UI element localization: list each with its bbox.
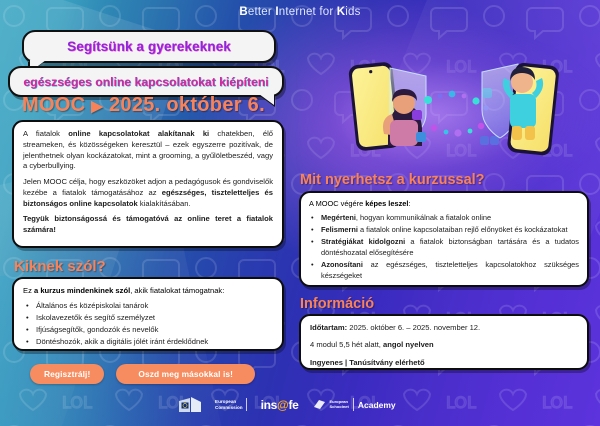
- speech-bubble-2-text: egészséges online kapcsolatokat kiépíten…: [23, 75, 268, 89]
- heading-kiknek-szol: Kiknek szól?: [14, 258, 106, 275]
- brand-letter-b: B: [239, 6, 248, 18]
- mooc-date-line: MOOC ▶ 2025. október 6.: [22, 94, 265, 117]
- cta-button-row: Regisztrálj! Oszd meg másokkal is!: [30, 364, 255, 384]
- info-modules: 4 modul 5,5 hét alatt, angol nyelven: [310, 340, 578, 350]
- audience-card: Ez a kurzus mindenkinek szól, akik fiata…: [12, 277, 284, 351]
- esn-line-2: Schoolnet: [330, 405, 349, 410]
- brand-word-1: etter: [248, 6, 275, 18]
- outcomes-card: A MOOC végére képes leszel: Megérteni, h…: [299, 191, 589, 287]
- info-duration-label: Időtartam:: [310, 323, 347, 332]
- heading-informacio: Információ: [300, 296, 374, 312]
- list-item: Döntéshozók, akik a digitális jólét irán…: [36, 336, 273, 348]
- brand-word-2: nternet for: [279, 6, 337, 18]
- european-schoolnet-academy-logo: European Schoolnet Academy: [313, 398, 396, 411]
- insafe-logo: ins@fe: [261, 398, 299, 412]
- list-item: Felismerni a fiatalok online kapcsolatai…: [321, 225, 579, 236]
- play-triangle-icon: ▶: [91, 98, 103, 115]
- speech-bubble-1-text: Segítsünk a gyerekeknek: [67, 39, 231, 54]
- european-commission-logo: European Commission: [178, 396, 247, 413]
- brand-word-3: ids: [345, 6, 360, 18]
- intro-card: A fiatalok online kapcsolatokat alakítan…: [12, 120, 284, 248]
- academy-label: Academy: [358, 400, 396, 410]
- footer-logos: European Commission ins@fe European Scho…: [178, 396, 396, 413]
- speech-bubble-1: Segítsünk a gyerekeknek: [22, 30, 276, 63]
- speech-bubble-2: egészséges online kapcsolatokat kiépíten…: [8, 66, 284, 97]
- info-card: Időtartam: 2025. október 6. – 2025. nove…: [299, 314, 589, 370]
- schoolnet-mark-icon: [313, 398, 326, 411]
- insafe-post: fe: [288, 398, 298, 412]
- list-item: Általános és középiskolai tanárok: [36, 300, 273, 312]
- info-duration-value: 2025. október 6. – 2025. november 12.: [349, 323, 480, 332]
- info-price: Ingyenes | Tanúsítvány elérhető: [310, 358, 578, 368]
- intro-paragraph-3: Tegyük biztonságossá és támogatóvá az on…: [23, 214, 273, 236]
- mooc-label: MOOC: [22, 94, 85, 116]
- list-item: Azonosítani az egészséges, tisztelettelj…: [321, 260, 579, 282]
- esn-logo-text: European Schoolnet: [330, 400, 349, 409]
- insafe-pre: ins: [261, 398, 277, 412]
- audience-lead: Ez a kurzus mindenkinek szól, akik fiata…: [23, 286, 273, 295]
- info-duration: Időtartam: 2025. október 6. – 2025. nove…: [310, 323, 578, 333]
- brand-title: Better Internet for Kids: [0, 6, 600, 18]
- at-sign-icon: @: [277, 398, 288, 412]
- intro-paragraph-1: A fiatalok online kapcsolatokat alakítan…: [23, 129, 273, 172]
- list-item: Stratégiákat kidolgozni a fiatalok bizto…: [321, 237, 579, 259]
- outcomes-lead: A MOOC végére képes leszel:: [309, 199, 579, 208]
- ec-line-2: Commission: [215, 405, 243, 410]
- poster-root: LOL Better Internet for Kids: [0, 0, 600, 426]
- share-button[interactable]: Oszd meg másokkal is!: [116, 364, 255, 384]
- heading-mit-nyerhetsz: Mit nyerhetsz a kurzussal?: [300, 172, 485, 188]
- list-item: Ifjúságsegítők, gondozók és nevelők: [36, 324, 273, 336]
- list-item: Iskolavezetők és segítő személyzet: [36, 312, 273, 324]
- intro-paragraph-2: Jelen MOOC célja, hogy eszközöket adjon …: [23, 177, 273, 209]
- ec-emblem-icon: [178, 396, 212, 413]
- brand-letter-k: K: [337, 6, 346, 18]
- mooc-date: 2025. október 6.: [109, 94, 265, 116]
- footer-divider-2: [353, 398, 354, 411]
- illustration-two-phones: [330, 44, 580, 172]
- ec-logo-text: European Commission: [215, 399, 243, 410]
- audience-list: Általános és középiskolai tanárok Iskola…: [23, 300, 273, 347]
- list-item: Megérteni, hogyan kommunikálnak a fiatal…: [321, 213, 579, 224]
- register-button[interactable]: Regisztrálj!: [30, 364, 104, 384]
- outcomes-list: Megérteni, hogyan kommunikálnak a fiatal…: [309, 213, 579, 282]
- footer-divider-1: [246, 398, 247, 411]
